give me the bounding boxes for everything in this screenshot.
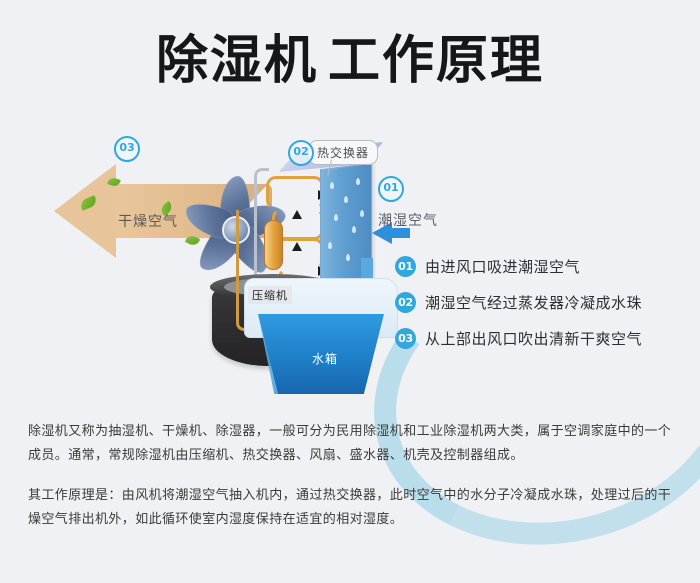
body-copy: 除湿机又称为抽湿机、干燥机、除湿器，一般可分为民用除湿机和工业除湿机两大类，属于…: [28, 420, 676, 532]
dry-air-label: 干燥空气: [118, 211, 178, 231]
steps-legend: 01 由进风口吸进潮湿空气 02 潮湿空气经过蒸发器冷凝成水珠 03 从上部出风…: [395, 256, 685, 364]
heat-exchanger-callout: 热交换器: [308, 140, 378, 165]
dry-air-arrow-head: [54, 164, 116, 258]
compressor-label: 压缩机: [248, 286, 292, 304]
flow-arrow-up-icon: [292, 242, 302, 251]
page-title: 除湿机工作原理: [0, 30, 700, 92]
legend-text-01: 由进风口吸进潮湿空气: [425, 256, 580, 277]
water-droplet-icon: [356, 178, 360, 185]
diagram-badge-02: 02: [288, 140, 314, 166]
water-droplet-icon: [352, 226, 356, 233]
water-droplet-icon: [328, 242, 332, 249]
legend-item-03: 03 从上部出风口吹出清新干爽空气: [395, 328, 685, 349]
legend-item-01: 01 由进风口吸进潮湿空气: [395, 256, 685, 277]
receiver-cylinder: [264, 220, 283, 270]
legend-badge-03: 03: [395, 328, 416, 349]
legend-text-02: 潮湿空气经过蒸发器冷凝成水珠: [425, 292, 642, 313]
water-droplet-icon: [334, 214, 338, 221]
water-droplet-icon: [360, 210, 364, 217]
humid-air-label: 潮湿空气: [378, 210, 438, 230]
water-droplet-icon: [346, 254, 350, 261]
water-droplet-icon: [344, 196, 348, 203]
water-tank-label: 水箱: [312, 350, 338, 367]
paragraph-2: 其工作原理是：由风机将潮湿空气抽入机内，通过热交换器，此时空气中的水分子冷凝成水…: [28, 484, 676, 532]
diagram-badge-01: 01: [378, 176, 404, 202]
page-title-part-b: 工作原理: [328, 31, 544, 91]
paragraph-1: 除湿机又称为抽湿机、干燥机、除湿器，一般可分为民用除湿机和工业除湿机两大类，属于…: [28, 420, 676, 468]
coil-pipe: [266, 176, 324, 210]
legend-badge-01: 01: [395, 256, 416, 277]
flow-arrow-up-icon: [292, 210, 302, 219]
legend-text-03: 从上部出风口吹出清新干爽空气: [425, 328, 642, 349]
diagram-badge-03: 03: [114, 136, 140, 162]
legend-item-02: 02 潮湿空气经过蒸发器冷凝成水珠: [395, 292, 685, 313]
legend-badge-02: 02: [395, 292, 416, 313]
page-title-part-a: 除湿机: [156, 31, 318, 91]
infographic-page: 除湿机工作原理 03 干燥空气: [0, 0, 700, 566]
water-droplet-icon: [330, 182, 334, 189]
condensate-arrow-tail: [361, 258, 373, 280]
